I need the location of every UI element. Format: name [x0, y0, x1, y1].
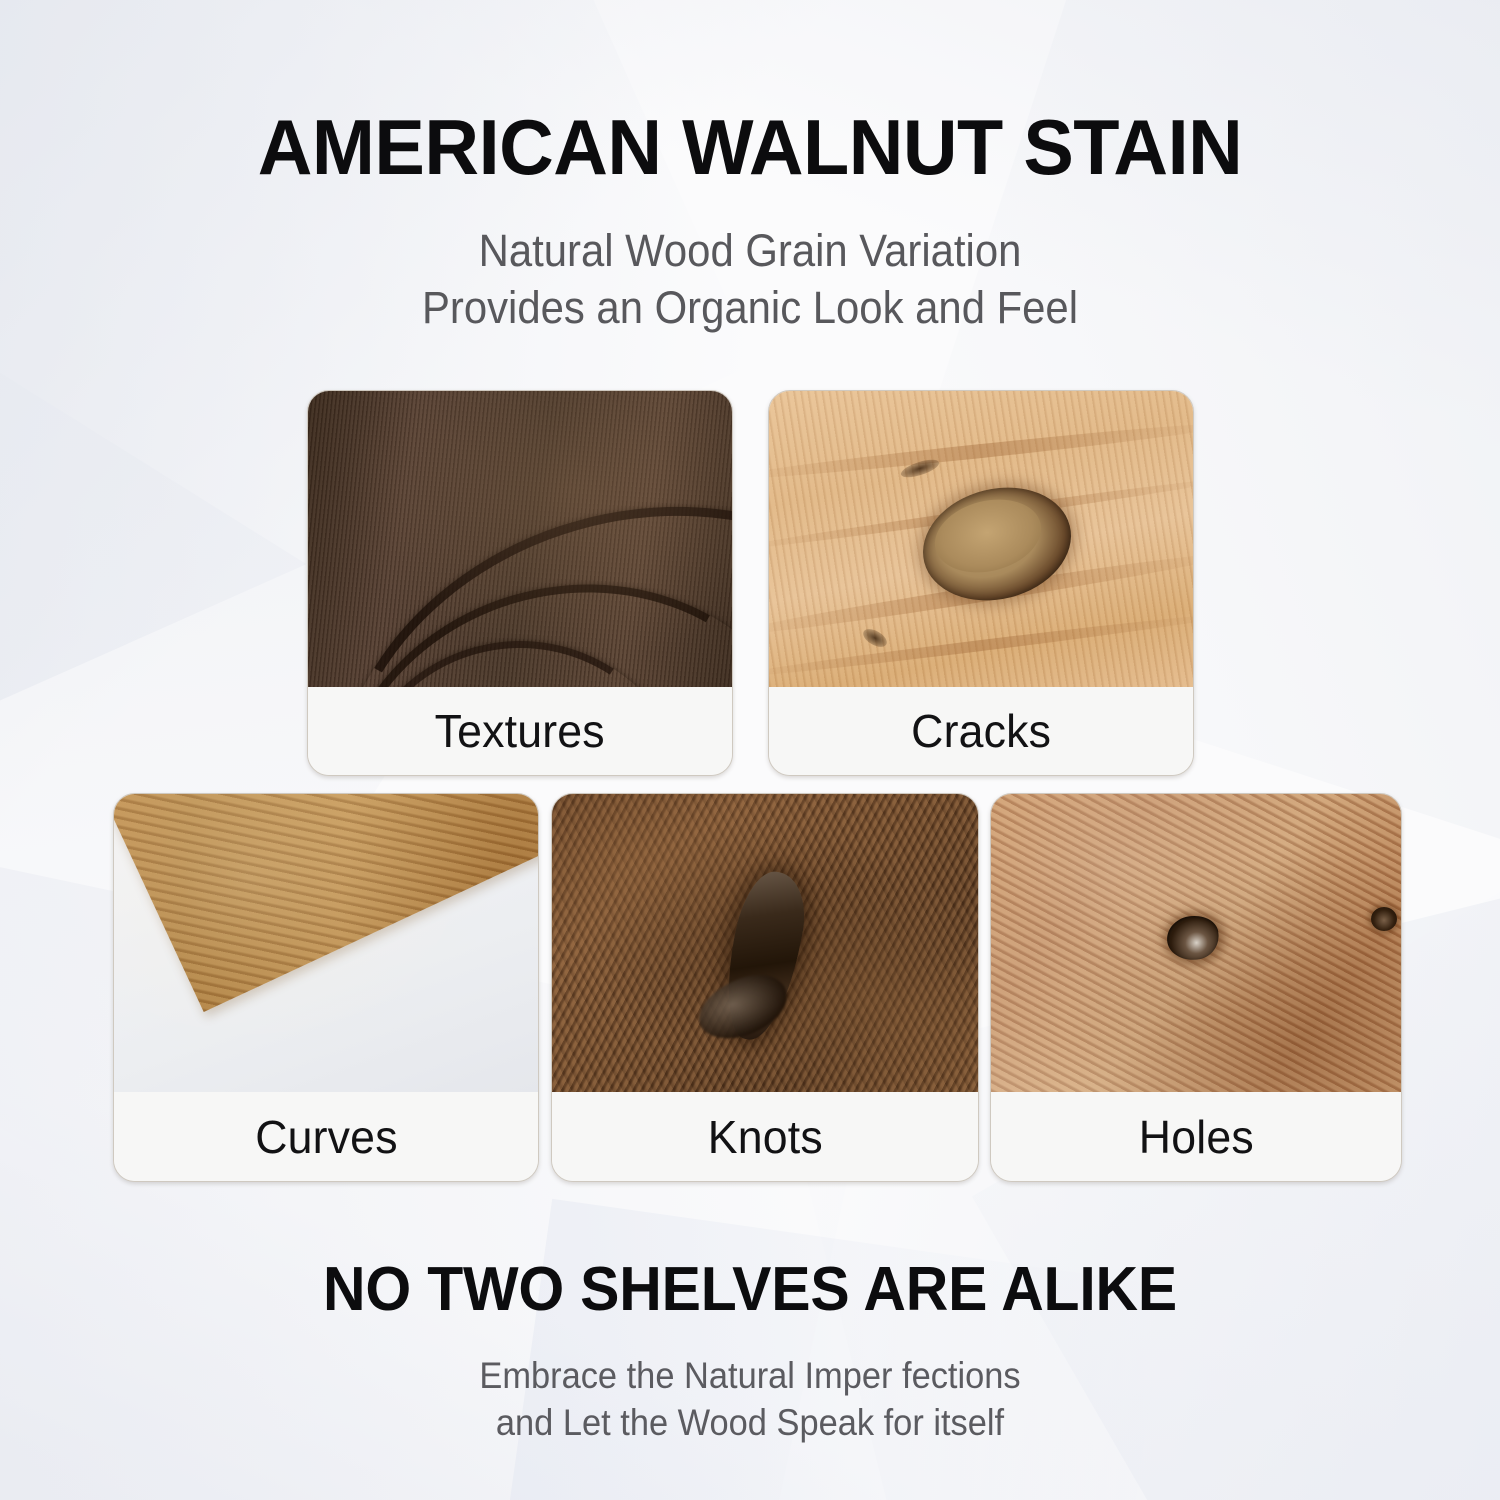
feature-label-knots: Knots — [707, 1114, 822, 1160]
feature-label-holes: Holes — [1138, 1114, 1253, 1160]
feature-label-curves: Curves — [255, 1114, 397, 1160]
wood-texture-board-edge — [114, 794, 538, 1092]
wood-texture-mottled-walnut — [552, 794, 978, 1092]
feature-label-band-cracks: Cracks — [769, 687, 1193, 775]
wood-texture-pale-tan — [769, 391, 1193, 687]
page-subtitle: Natural Wood Grain Variation Provides an… — [53, 222, 1448, 336]
footer-subtitle: Embrace the Natural Imper fections and L… — [53, 1352, 1448, 1446]
footer-subtitle-line-1: Embrace the Natural Imper fections — [53, 1352, 1448, 1399]
feature-photo-textures — [308, 391, 732, 687]
feature-label-cracks: Cracks — [911, 708, 1051, 754]
feature-label-band-textures: Textures — [308, 687, 732, 775]
feature-label-textures: Textures — [435, 708, 605, 754]
feature-card-curves[interactable]: Curves — [113, 793, 539, 1182]
feature-card-cracks[interactable]: Cracks — [768, 390, 1194, 776]
feature-label-band-knots: Knots — [552, 1092, 978, 1181]
footer-title: NO TWO SHELVES ARE ALIKE — [38, 1254, 1463, 1326]
feature-photo-cracks — [769, 391, 1193, 687]
feature-card-holes[interactable]: Holes — [990, 793, 1402, 1182]
feature-card-knots[interactable]: Knots — [551, 793, 979, 1182]
page-title: AMERICAN WALNUT STAIN — [23, 103, 1478, 191]
feature-label-band-curves: Curves — [114, 1092, 538, 1181]
feature-photo-knots — [552, 794, 978, 1092]
background-facet — [494, 1199, 1166, 1500]
infographic-page: AMERICAN WALNUT STAIN Natural Wood Grain… — [0, 0, 1500, 1500]
feature-photo-curves — [114, 794, 538, 1092]
feature-label-band-holes: Holes — [991, 1092, 1401, 1181]
wood-texture-reddish-grain — [991, 794, 1401, 1092]
wood-texture-dark-walnut — [308, 391, 732, 687]
page-subtitle-line-2: Provides an Organic Look and Feel — [53, 279, 1448, 336]
footer-subtitle-line-2: and Let the Wood Speak for itself — [53, 1399, 1448, 1446]
feature-photo-holes — [991, 794, 1401, 1092]
page-subtitle-line-1: Natural Wood Grain Variation — [53, 222, 1448, 279]
feature-card-textures[interactable]: Textures — [307, 390, 733, 776]
